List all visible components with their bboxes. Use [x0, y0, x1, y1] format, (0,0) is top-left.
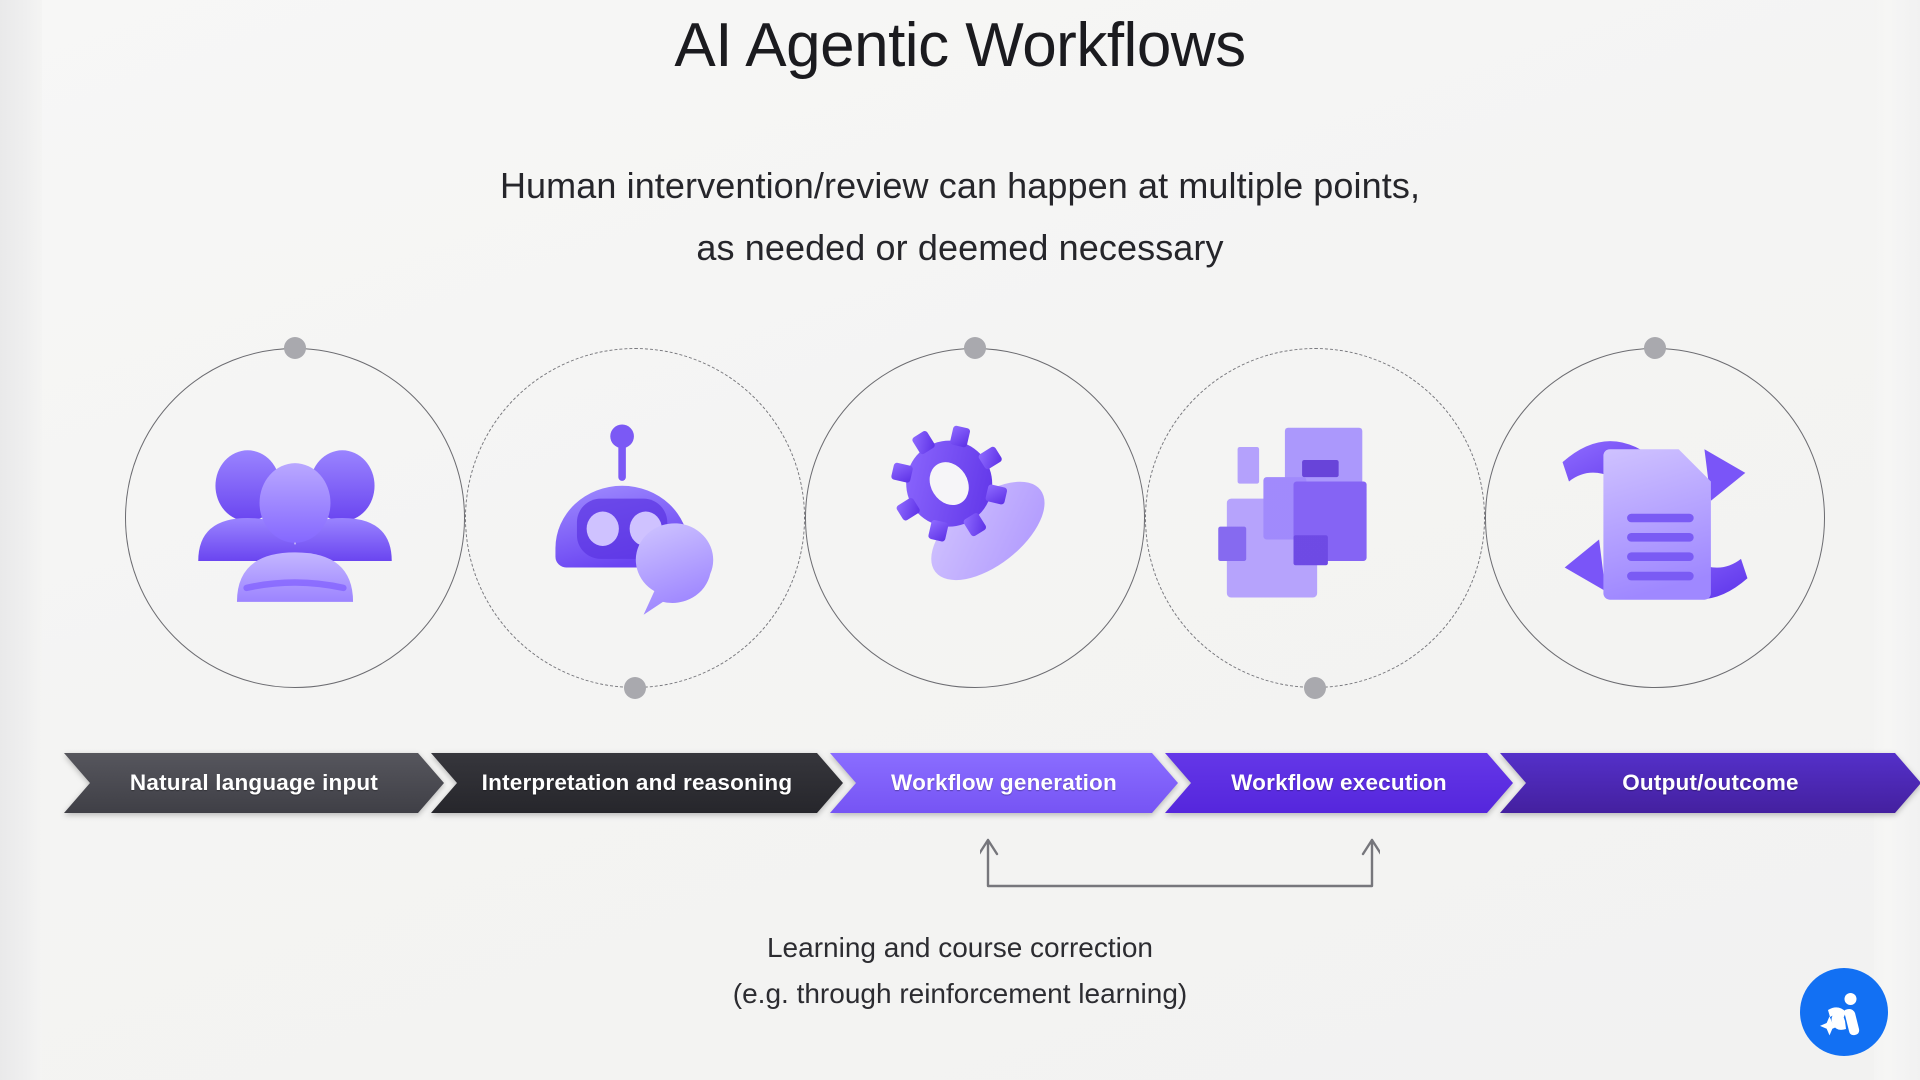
- robot-chat-icon: [528, 411, 743, 626]
- stacked-blocks-icon: [1208, 411, 1423, 626]
- document-refresh-icon: [1548, 411, 1763, 626]
- stage-chevron-4-label: Workflow execution: [1213, 770, 1465, 796]
- stage-chevron-4[interactable]: Workflow execution: [1165, 753, 1513, 813]
- stage-chevron-5-label: Output/outcome: [1604, 770, 1817, 796]
- sparkle-ai-mark: [1816, 984, 1872, 1040]
- stage-node-1[interactable]: [125, 348, 465, 688]
- stage-node-2[interactable]: [465, 348, 805, 688]
- workflow-stage-banner: Natural language input Interpretation an…: [64, 753, 1908, 813]
- stage-node-4[interactable]: [1145, 348, 1485, 688]
- stage-marker-dot-1: [284, 337, 306, 359]
- stage-marker-dot-3: [964, 337, 986, 359]
- feedback-caption-line-1: Learning and course correction: [0, 925, 1920, 971]
- feedback-loop-bracket: [980, 828, 1380, 890]
- subtitle-line-1: Human intervention/review can happen at …: [0, 155, 1920, 217]
- slide-canvas: AI Agentic Workflows Human intervention/…: [0, 0, 1920, 1080]
- feedback-caption-line-2: (e.g. through reinforcement learning): [0, 971, 1920, 1017]
- ai-brand-logo[interactable]: [1800, 968, 1888, 1056]
- feedback-caption: Learning and course correction (e.g. thr…: [0, 925, 1920, 1017]
- people-group-icon: [188, 411, 403, 626]
- stage-node-5[interactable]: [1485, 348, 1825, 688]
- stage-icon-row: [0, 332, 1920, 704]
- stage-node-3[interactable]: [805, 348, 1145, 688]
- page-subtitle: Human intervention/review can happen at …: [0, 155, 1920, 279]
- stage-chevron-2-label: Interpretation and reasoning: [464, 770, 811, 796]
- stage-marker-dot-2: [624, 677, 646, 699]
- subtitle-line-2: as needed or deemed necessary: [0, 217, 1920, 279]
- stage-chevron-1-label: Natural language input: [112, 770, 396, 796]
- stage-chevron-5[interactable]: Output/outcome: [1500, 753, 1920, 813]
- stage-chevron-3-label: Workflow generation: [873, 770, 1135, 796]
- gear-orbit-icon: [868, 411, 1083, 626]
- page-title: AI Agentic Workflows: [0, 10, 1920, 81]
- stage-chevron-1[interactable]: Natural language input: [64, 753, 444, 813]
- stage-marker-dot-5: [1644, 337, 1666, 359]
- stage-marker-dot-4: [1304, 677, 1326, 699]
- stage-chevron-2[interactable]: Interpretation and reasoning: [431, 753, 843, 813]
- stage-chevron-3[interactable]: Workflow generation: [830, 753, 1178, 813]
